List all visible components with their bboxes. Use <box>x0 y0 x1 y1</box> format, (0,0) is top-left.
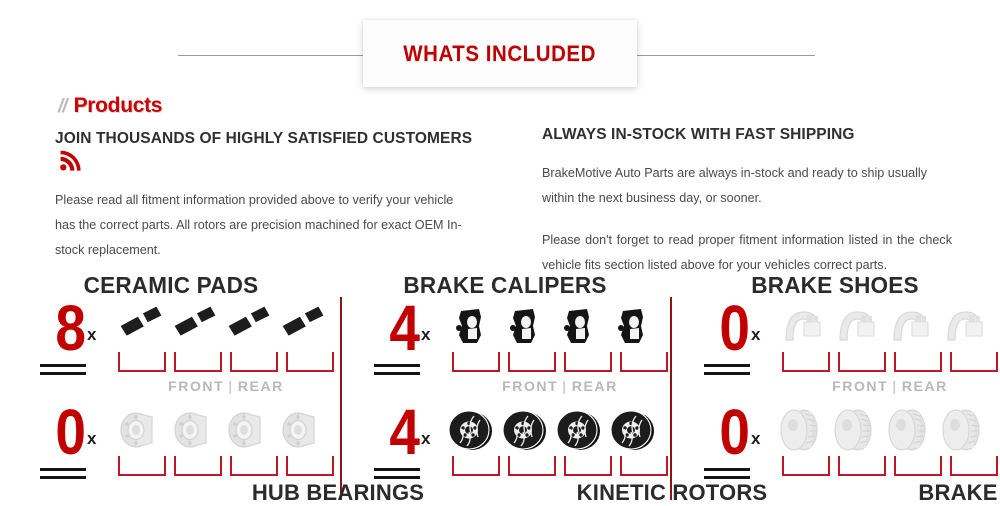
equals-bars-icon <box>40 468 86 484</box>
parts-strip: FRONT|REAR <box>118 302 334 398</box>
bracket <box>564 352 612 372</box>
bracket <box>286 352 334 372</box>
brake-rotor-icon <box>502 406 554 456</box>
brake-rotor-icon <box>556 406 608 456</box>
front-rear-separator: | <box>224 378 238 394</box>
rear-label: REAR <box>238 378 284 394</box>
bracket <box>174 352 222 372</box>
parts-strip: KINETIC ROTORS <box>452 406 668 502</box>
parts-strip: FRONT|REAR <box>782 302 998 398</box>
qty-cluster: 4 x <box>358 302 454 398</box>
product-column-1: CERAMIC PADS 8 x <box>6 272 336 500</box>
qty-cluster: 8 x <box>24 302 120 398</box>
brake-drum-icon <box>886 406 938 456</box>
bracket-group <box>118 456 334 478</box>
front-label: FRONT <box>502 378 558 394</box>
multiplier-label: x <box>751 430 760 447</box>
qty-number-brake-drums: 0 <box>697 400 750 464</box>
bracket <box>452 352 500 372</box>
bracket <box>620 352 668 372</box>
parts-icons <box>452 406 668 456</box>
hub-bearing-icon <box>276 406 328 456</box>
bracket <box>564 456 612 476</box>
front-rear-label: FRONT|REAR <box>118 378 334 394</box>
hub-bearing-icon <box>168 406 220 456</box>
bracket <box>230 352 278 372</box>
products-title: Products <box>74 94 163 118</box>
bracket-group <box>452 352 668 374</box>
qty-cluster: 0 x <box>688 302 784 398</box>
equals-bars-icon <box>704 468 750 484</box>
bracket <box>452 456 500 476</box>
bracket <box>508 456 556 476</box>
rss-icon <box>60 153 80 171</box>
banner-title: WHATS INCLUDED <box>404 41 597 67</box>
slashes-icon: // <box>58 96 67 118</box>
rear-label: REAR <box>902 378 948 394</box>
product-row-hub-bearings: 0 x <box>6 406 336 504</box>
brake-drum-icon <box>940 406 992 456</box>
product-title-brake-drums: BRAKE DRUMS <box>894 480 1000 506</box>
bracket-group <box>782 352 998 374</box>
qty-cluster: 4 x <box>358 406 454 502</box>
bracket <box>950 456 998 476</box>
brake-pad-icon <box>168 302 220 352</box>
brake-rotor-icon <box>610 406 662 456</box>
hub-bearing-icon <box>222 406 274 456</box>
qty-number-ceramic-pads: 8 <box>33 296 86 360</box>
products-eyebrow: // Products <box>58 94 162 118</box>
qty-cluster: 0 x <box>688 406 784 502</box>
parts-icons <box>452 302 668 352</box>
brake-rotor-icon <box>448 406 500 456</box>
right-text-column: ALWAYS IN-STOCK WITH FAST SHIPPING Brake… <box>542 122 952 278</box>
brake-pad-icon <box>222 302 274 352</box>
front-rear-separator: | <box>888 378 902 394</box>
product-column-3: BRAKE SHOES 0 x <box>670 272 1000 500</box>
hub-bearing-icon <box>114 406 166 456</box>
bracket <box>230 456 278 476</box>
front-rear-label: FRONT|REAR <box>782 378 998 394</box>
brake-shoe-icon <box>778 302 830 352</box>
brake-caliper-icon <box>556 302 608 352</box>
front-rear-separator: | <box>558 378 572 394</box>
bracket <box>894 456 942 476</box>
product-row-brake-shoes: 0 x <box>670 302 1000 400</box>
equals-bars-icon <box>40 364 86 380</box>
front-label: FRONT <box>832 378 888 394</box>
qty-cluster: 0 x <box>24 406 120 502</box>
brake-caliper-icon <box>610 302 662 352</box>
brake-pad-icon <box>276 302 328 352</box>
multiplier-label: x <box>421 326 430 343</box>
bracket <box>950 352 998 372</box>
brake-drum-icon <box>832 406 884 456</box>
qty-number-brake-calipers: 4 <box>367 296 420 360</box>
bracket <box>894 352 942 372</box>
parts-strip: HUB BEARINGS <box>118 406 334 502</box>
bracket <box>118 352 166 372</box>
parts-strip: BRAKE DRUMS <box>782 406 998 502</box>
product-column-2: BRAKE CALIPERS 4 x <box>340 272 670 500</box>
brake-drum-icon <box>778 406 830 456</box>
banner-box: WHATS INCLUDED <box>363 20 637 87</box>
left-paragraph: Please read all fitment information prov… <box>55 188 475 263</box>
bracket <box>508 352 556 372</box>
bracket <box>782 352 830 372</box>
banner-rule-left <box>178 55 370 56</box>
multiplier-label: x <box>87 326 96 343</box>
product-row-ceramic-pads: 8 x <box>6 302 336 400</box>
equals-bars-icon <box>704 364 750 380</box>
banner: WHATS INCLUDED <box>0 0 1000 90</box>
product-grid: CERAMIC PADS 8 x <box>0 272 1000 500</box>
equals-bars-icon <box>374 468 420 484</box>
product-footer: BRAKE DRUMS <box>894 480 1000 506</box>
right-heading: ALWAYS IN-STOCK WITH FAST SHIPPING <box>542 122 952 147</box>
product-row-brake-calipers: 4 x <box>340 302 670 400</box>
bracket <box>838 456 886 476</box>
parts-icons <box>782 406 998 456</box>
qty-number-kinetic-rotors: 4 <box>367 400 420 464</box>
bracket <box>286 456 334 476</box>
right-paragraph-1: BrakeMotive Auto Parts are always in-sto… <box>542 161 952 211</box>
multiplier-label: x <box>421 430 430 447</box>
bracket-group <box>452 456 668 478</box>
front-label: FRONT <box>168 378 224 394</box>
bracket <box>620 456 668 476</box>
brake-caliper-icon <box>502 302 554 352</box>
brake-caliper-icon <box>448 302 500 352</box>
parts-strip: FRONT|REAR <box>452 302 668 398</box>
brake-pad-icon <box>114 302 166 352</box>
qty-number-hub-bearings: 0 <box>33 400 86 464</box>
bracket <box>838 352 886 372</box>
brake-shoe-icon <box>886 302 938 352</box>
bracket <box>118 456 166 476</box>
left-text-column: JOIN THOUSANDS OF HIGHLY SATISFIED CUSTO… <box>55 126 475 263</box>
brake-shoe-icon <box>940 302 992 352</box>
qty-number-brake-shoes: 0 <box>697 296 750 360</box>
product-row-brake-drums: 0 x <box>670 406 1000 504</box>
bracket <box>782 456 830 476</box>
rear-label: REAR <box>572 378 618 394</box>
bracket <box>174 456 222 476</box>
parts-icons <box>118 406 334 456</box>
left-heading-text: JOIN THOUSANDS OF HIGHLY SATISFIED CUSTO… <box>55 130 472 147</box>
product-row-kinetic-rotors: 4 x <box>340 406 670 504</box>
equals-bars-icon <box>374 364 420 380</box>
bracket-group <box>782 456 998 478</box>
parts-icons <box>118 302 334 352</box>
bracket-group <box>118 352 334 374</box>
multiplier-label: x <box>751 326 760 343</box>
left-heading: JOIN THOUSANDS OF HIGHLY SATISFIED CUSTO… <box>55 126 475 176</box>
multiplier-label: x <box>87 430 96 447</box>
whats-included-panel: WHATS INCLUDED // Products JOIN THOUSAND… <box>0 0 1000 500</box>
parts-icons <box>782 302 998 352</box>
front-rear-label: FRONT|REAR <box>452 378 668 394</box>
brake-shoe-icon <box>832 302 884 352</box>
right-paragraph-2: Please don't forget to read proper fitme… <box>542 228 952 278</box>
banner-rule-right <box>630 55 815 56</box>
